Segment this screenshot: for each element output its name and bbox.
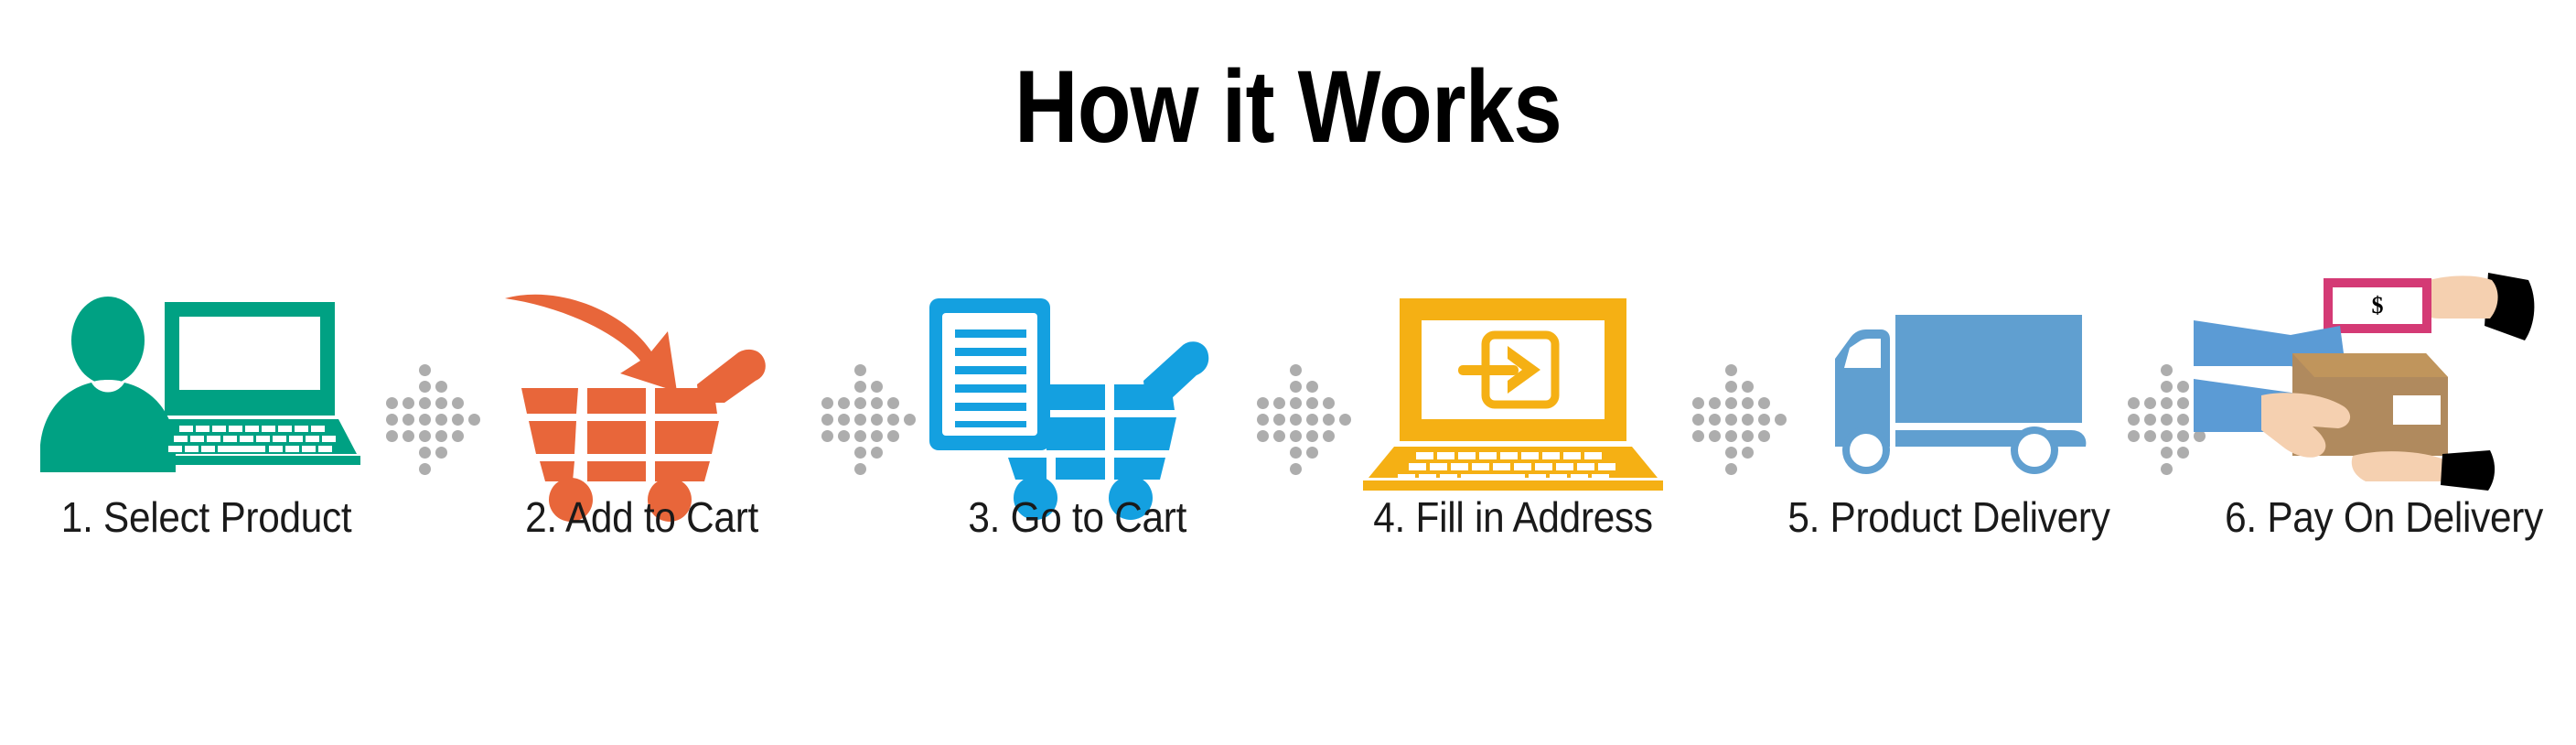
laptop-with-enter-arrow-icon [1343, 293, 1683, 476]
step-6-label: 6. Pay On Delivery [2225, 492, 2543, 542]
delivery-truck-icon [1778, 293, 2119, 476]
dotted-arrow-right-icon [1248, 309, 1343, 492]
how-it-works-infographic: How it Works [0, 0, 2576, 745]
step-1-label: 1. Select Product [61, 492, 352, 542]
page-title: How it Works [180, 53, 2396, 161]
step-4-label: 4. Fill in Address [1373, 492, 1653, 542]
step-3-go-to-cart[interactable]: 3. Go to Cart [907, 293, 1248, 542]
dollar-symbol-text: $ [2372, 292, 2384, 319]
step-3-label: 3. Go to Cart [969, 492, 1187, 542]
steps-row: 1. Select Product [37, 293, 2543, 542]
step-2-add-to-cart[interactable]: 2. Add to Cart [472, 293, 812, 542]
banknote: $ [2324, 278, 2431, 333]
dotted-arrow-right-icon [377, 309, 472, 492]
document-with-cart-icon [907, 293, 1248, 476]
dotted-arrow-right-icon [812, 309, 907, 492]
cart-with-arrow-icon [472, 293, 812, 476]
step-4-fill-in-address[interactable]: 4. Fill in Address [1343, 293, 1683, 542]
step-5-label: 5. Product Delivery [1787, 492, 2109, 542]
step-6-pay-on-delivery[interactable]: $ [2214, 293, 2554, 542]
person-with-laptop-icon [37, 293, 377, 476]
dotted-arrow-right-icon [1683, 309, 1778, 492]
step-5-product-delivery[interactable]: 5. Product Delivery [1778, 293, 2119, 542]
step-2-label: 2. Add to Cart [526, 492, 759, 542]
step-1-select-product[interactable]: 1. Select Product [37, 293, 377, 542]
hands-exchange-box-and-cash-icon: $ [2214, 293, 2554, 476]
